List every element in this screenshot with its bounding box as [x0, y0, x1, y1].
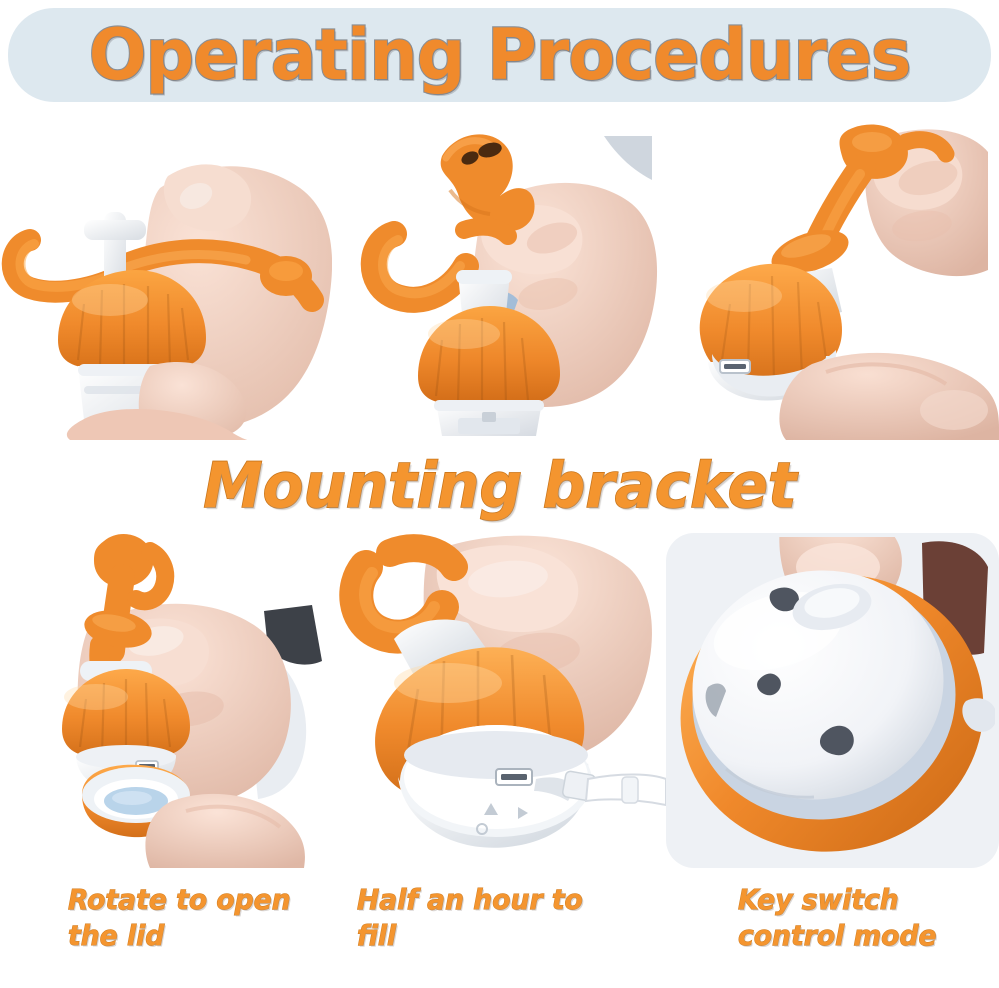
product-photo-image	[0, 533, 332, 868]
caption-line: Rotate to open	[68, 883, 291, 916]
photo-panel-insert-bracket	[332, 118, 666, 440]
caption-line: control mode	[738, 919, 937, 952]
photo-panel-press-key-switch	[666, 533, 999, 868]
caption-label: Half an hour to fill	[357, 882, 623, 954]
infographic-page: Operating Procedures	[0, 0, 999, 988]
caption-cell-rotate-to-open: Rotate to open the lid	[0, 868, 333, 988]
photo-panel-attach-rope-to-toy	[0, 118, 332, 440]
caption-line: Half an hour to fill	[357, 883, 583, 952]
caption-label: Key switch control mode	[738, 882, 986, 954]
caption-cell-key-switch: Key switch control mode	[666, 868, 999, 988]
photo-row-top	[0, 118, 999, 440]
caption-label: Rotate to open the lid	[68, 882, 320, 954]
caption-row: Rotate to open the lid Half an hour to f…	[0, 868, 999, 988]
product-photo-image	[0, 118, 332, 440]
photo-row-bottom	[0, 533, 999, 868]
mounting-bracket-band: Mounting bracket	[0, 440, 999, 532]
caption-cell-half-an-hour: Half an hour to fill	[333, 868, 666, 988]
caption-line: Key switch	[738, 883, 899, 916]
mounting-bracket-label: Mounting bracket	[203, 455, 796, 517]
product-photo-image	[666, 533, 999, 868]
title-banner: Operating Procedures	[8, 8, 991, 102]
photo-panel-charge-device	[332, 533, 666, 868]
product-photo-image	[332, 533, 666, 868]
photo-panel-open-lid	[0, 533, 332, 868]
product-photo-image	[666, 118, 999, 440]
product-photo-image	[332, 118, 666, 440]
caption-line: the lid	[68, 919, 164, 952]
photo-panel-hold-assembled-toy	[666, 118, 999, 440]
page-title: Operating Procedures	[89, 20, 911, 90]
